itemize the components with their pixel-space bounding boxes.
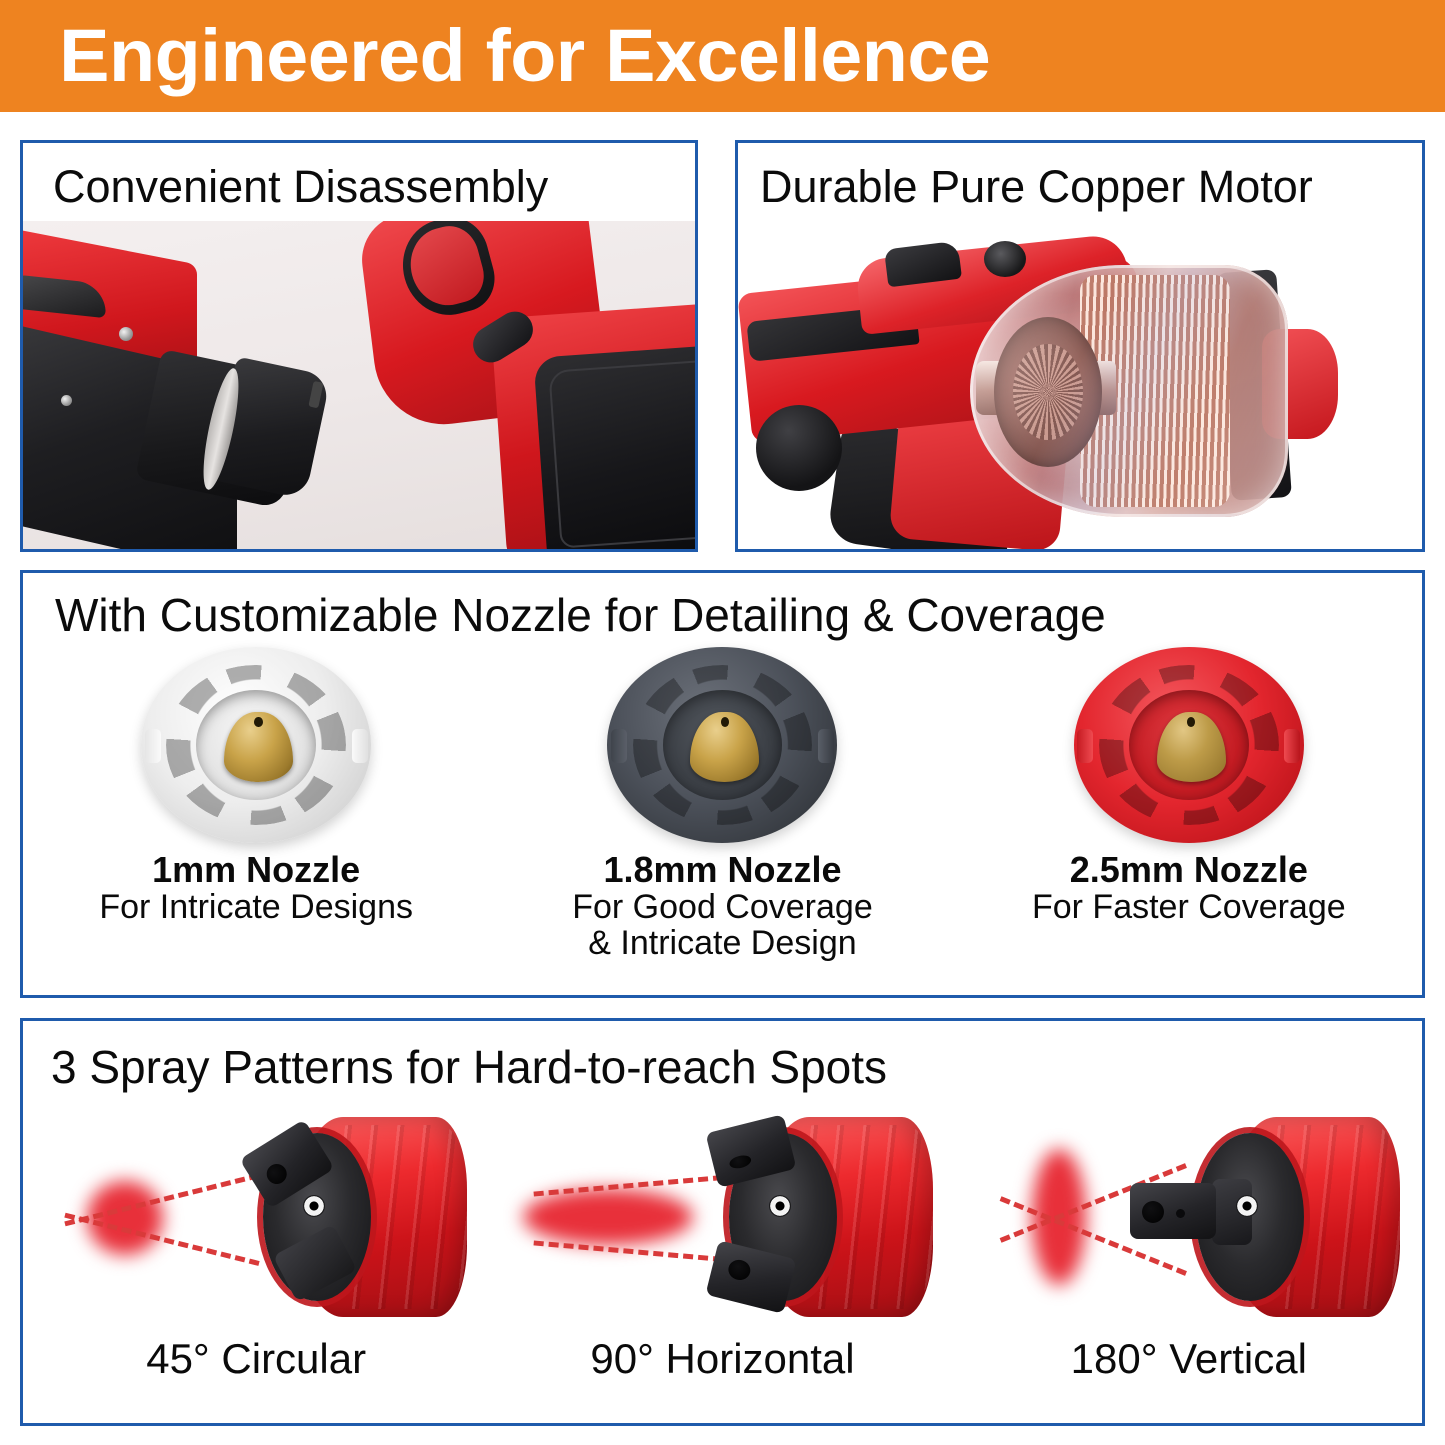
image-convenient-disassembly [23,221,695,549]
page-title: Engineered for Excellence [0,19,990,93]
panel-title-nozzles: With Customizable Nozzle for Detailing &… [55,591,1106,639]
infographic-page: Engineered for Excellence Convenient Dis… [0,0,1445,1445]
spray-cap-circular-icon [41,1103,471,1333]
nozzle-red-icon [1074,647,1304,843]
spray-label-circular: 45° Circular [146,1337,366,1381]
spray-item-circular: 45° Circular [23,1103,489,1423]
copper-motor-icon [970,265,1288,517]
panel-spray-patterns: 3 Spray Patterns for Hard-to-reach Spots [20,1018,1425,1426]
nozzle-desc-line: For Intricate Designs [99,889,413,925]
nozzle-desc-line: & Intricate Design [572,925,873,961]
nozzle-item-2-5mm: 2.5mm Nozzle For Faster Coverage [956,647,1422,992]
spray-cap-vertical-icon [974,1103,1404,1333]
panel-customizable-nozzle: With Customizable Nozzle for Detailing &… [20,570,1425,998]
dial-icon [984,241,1026,277]
spray-label-vertical: 180° Vertical [1071,1337,1307,1381]
spray-cap-horizontal-icon [507,1103,937,1333]
nozzle-item-1mm: 1mm Nozzle For Intricate Designs [23,647,489,992]
nozzle-name: 1.8mm Nozzle [572,851,873,889]
knob-icon [756,405,842,491]
panel-convenient-disassembly: Convenient Disassembly [20,140,698,552]
nozzle-white-icon [141,647,371,843]
panel-durable-pure-copper-motor: Durable Pure Copper Motor [735,140,1425,552]
spray-pattern-list: 45° Circular 90° Ho [23,1103,1422,1423]
nozzle-name: 1mm Nozzle [99,851,413,889]
nozzle-desc-line: For Faster Coverage [1032,889,1346,925]
nozzle-list: 1mm Nozzle For Intricate Designs 1.8mm N… [23,647,1422,992]
panel-title-spray: 3 Spray Patterns for Hard-to-reach Spots [51,1043,887,1091]
image-copper-motor [738,219,1422,549]
nozzle-label-1mm: 1mm Nozzle For Intricate Designs [99,851,413,925]
nozzle-grey-icon [607,647,837,843]
spray-label-horizontal: 90° Horizontal [590,1337,854,1381]
nozzle-name: 2.5mm Nozzle [1032,851,1346,889]
gun-rear-half-icon [349,221,695,549]
panel-title-disassembly: Convenient Disassembly [53,163,548,210]
panel-title-motor: Durable Pure Copper Motor [760,163,1313,210]
nozzle-label-2-5mm: 2.5mm Nozzle For Faster Coverage [1032,851,1346,925]
gun-front-half-icon [23,235,327,535]
spray-item-horizontal: 90° Horizontal [489,1103,955,1423]
nozzle-label-1-8mm: 1.8mm Nozzle For Good Coverage & Intrica… [572,851,873,961]
spray-item-vertical: 180° Vertical [956,1103,1422,1423]
header-banner: Engineered for Excellence [0,0,1445,112]
nozzle-desc-line: For Good Coverage [572,889,873,925]
nozzle-item-1-8mm: 1.8mm Nozzle For Good Coverage & Intrica… [489,647,955,992]
